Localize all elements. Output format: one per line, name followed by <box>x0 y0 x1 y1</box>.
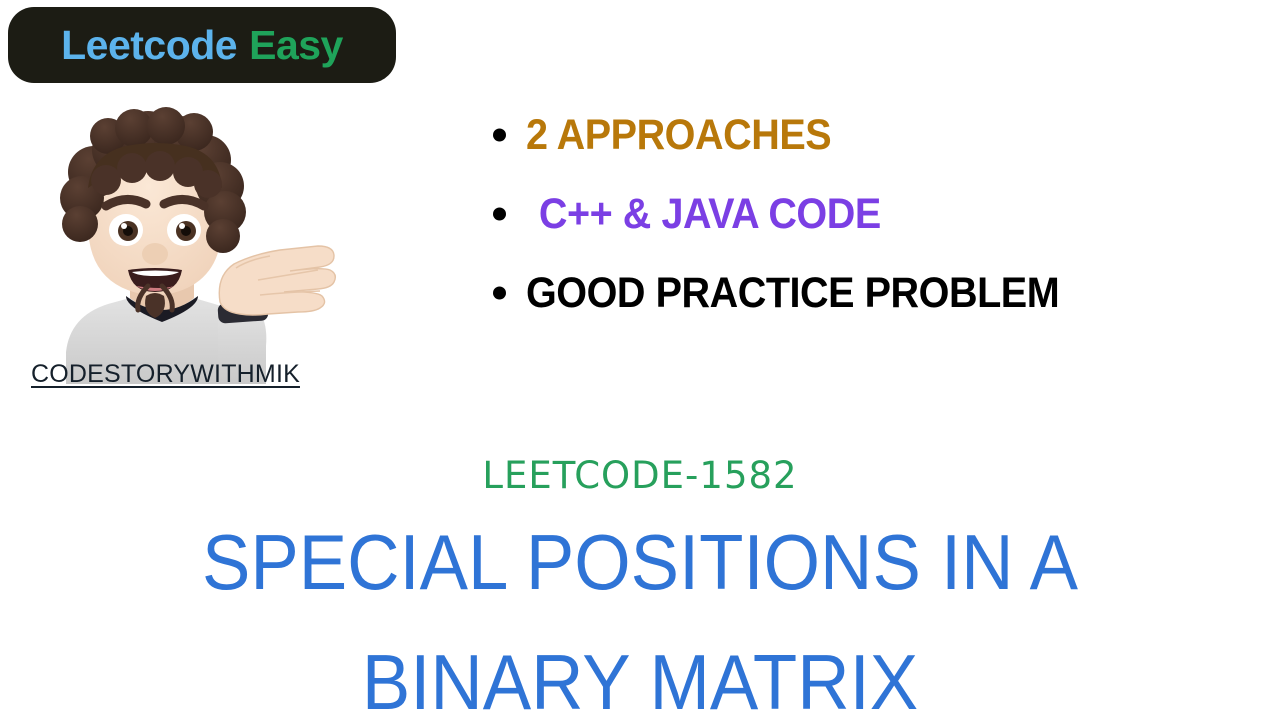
bullet-icon <box>493 287 506 300</box>
problem-block: LEETCODE-1582 SPECIAL POSITIONS IN A BIN… <box>0 455 1280 720</box>
list-item: C++ & JAVA CODE <box>470 187 1170 241</box>
feature-label-approaches: 2 APPROACHES <box>526 114 831 157</box>
bullet-icon <box>493 129 506 142</box>
list-item: 2 APPROACHES <box>470 108 1170 162</box>
avatar <box>22 84 342 384</box>
badge-difficulty-label: Easy <box>249 25 343 66</box>
problem-number: LEETCODE-1582 <box>0 455 1280 498</box>
page-title: SPECIAL POSITIONS IN A BINARY MATRIX <box>45 502 1235 720</box>
feature-label-practice: GOOD PRACTICE PROBLEM <box>526 272 1059 315</box>
feature-label-languages: C++ & JAVA CODE <box>526 193 881 236</box>
problem-title-line-1: SPECIAL POSITIONS IN A <box>45 502 1235 623</box>
memoji-illustration <box>22 84 342 384</box>
list-item: GOOD PRACTICE PROBLEM <box>470 266 1170 320</box>
difficulty-badge: Leetcode Easy <box>8 7 396 83</box>
channel-handle: CODESTORYWITHMIK <box>31 360 300 389</box>
feature-list: 2 APPROACHES C++ & JAVA CODE GOOD PRACTI… <box>470 108 1170 345</box>
problem-title-line-2: BINARY MATRIX <box>45 622 1235 720</box>
badge-platform-label: Leetcode <box>61 25 237 66</box>
thumbnail-canvas: Leetcode Easy <box>0 0 1280 720</box>
bullet-icon <box>493 208 506 221</box>
